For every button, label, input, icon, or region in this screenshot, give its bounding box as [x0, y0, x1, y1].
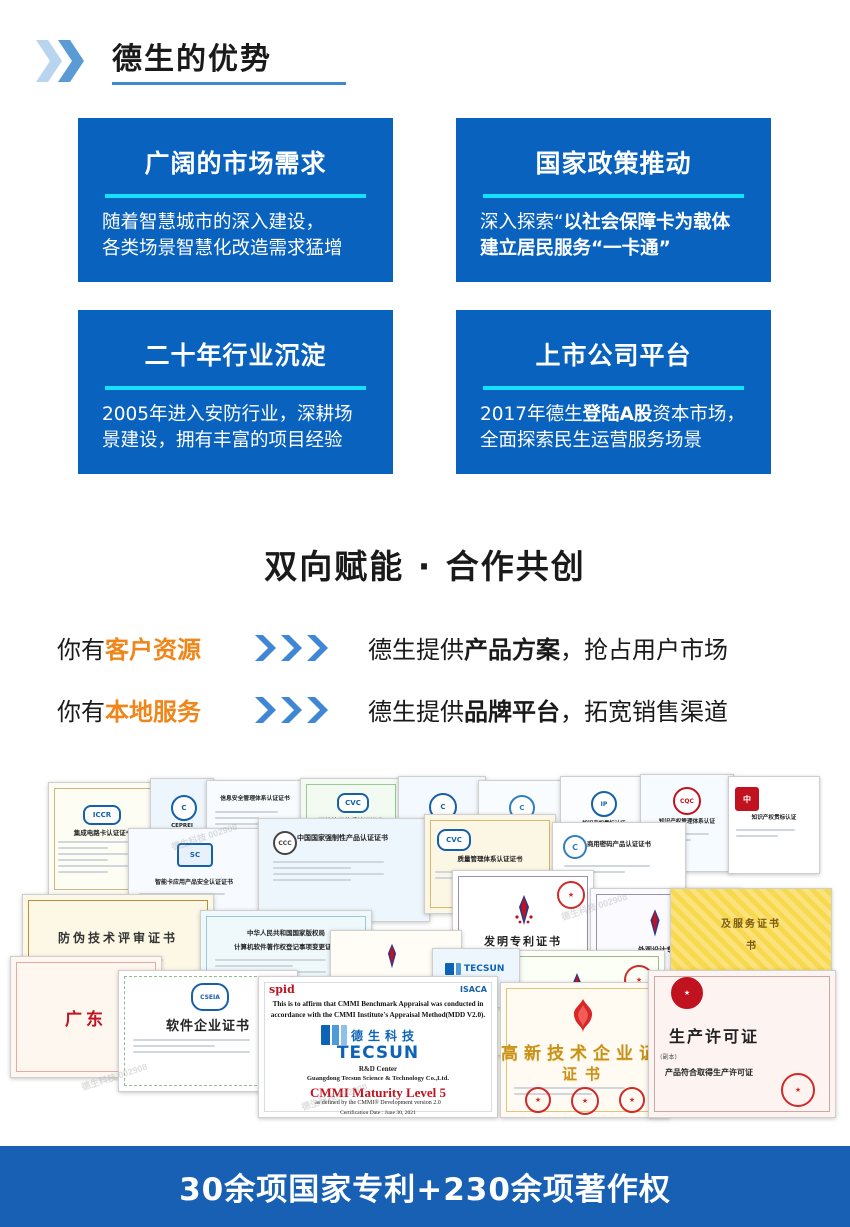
- certificate-title: 及服务证书: [671, 915, 831, 930]
- synergy-right-suffix: ，抢占用户市场: [560, 636, 728, 664]
- patent-emblem-icon: [645, 909, 665, 941]
- tecsun-en-label: TECSUN: [259, 1043, 497, 1063]
- cmmi-company: Guangdong Tecsun Science & Technology Co…: [259, 1075, 497, 1082]
- certificate-title-line2: 证书: [501, 1063, 669, 1084]
- red-seal-icon: ★: [781, 1073, 815, 1107]
- tecsun-mark-icon: [321, 1025, 347, 1045]
- certificate-title: 智能卡应用产品安全认证证书: [129, 877, 259, 886]
- card-body-suffix: “一卡通”: [591, 238, 671, 259]
- flame-emblem-icon: [567, 999, 599, 1037]
- synergy-left-highlight: 客户资源: [105, 636, 201, 664]
- certificate-title: 防伪技术评审证书: [23, 929, 213, 946]
- certificate-tile: CCC 中国国家强制性产品认证证书: [258, 818, 430, 922]
- card-title: 上市公司平台: [456, 310, 771, 372]
- ceprei-badge-icon: C: [171, 795, 197, 821]
- chevron-group: [36, 40, 102, 82]
- certificate-tile-cmmi: spid ISACA This is to affirm that CMMI B…: [258, 976, 498, 1118]
- synergy-left: 你有本地服务: [57, 692, 201, 727]
- cmmi-cert-date: Certification Date : June 30, 2021: [259, 1109, 497, 1118]
- cispa-badge-icon: C: [563, 835, 587, 859]
- red-seal-icon: ★: [525, 1087, 551, 1113]
- card-body-prefix: 深入探索“: [480, 212, 564, 233]
- iccr-badge-icon: ICCR: [83, 805, 121, 825]
- section-header: 德生的优势: [0, 34, 850, 92]
- synergy-right: 德生提供产品方案，抢占用户市场: [368, 630, 728, 665]
- triple-chevron-icon: [255, 697, 341, 723]
- smartcard-badge-icon: SC: [177, 843, 213, 867]
- synergy-left-prefix: 你有: [57, 636, 105, 664]
- certificate-tile-hightech: 高新技术企业证书 证书 ★ ★ ★: [500, 982, 670, 1118]
- patent-emblem-icon: [383, 943, 401, 973]
- card-body-line2: 各类场景智慧化改造需求猛增: [102, 238, 343, 259]
- banner-text: 30余项国家专利+230余项著作权: [179, 1164, 671, 1209]
- triple-chevron-icon: [255, 635, 341, 661]
- certificate-title: 质量管理体系认证证书: [425, 853, 555, 863]
- cmmi-statement: This is to affirm that CMMI Benchmark Ap…: [269, 999, 488, 1021]
- national-emblem-icon: ★: [671, 977, 703, 1009]
- advantage-card-listed-company: 上市公司平台 2017年德生登陆A股资本市场，全面探索民生运营服务场景: [456, 310, 771, 474]
- ccc-badge-icon: CCC: [273, 831, 297, 855]
- title-underline: [112, 82, 346, 85]
- certificate-title: 高新技术企业证书: [501, 1039, 669, 1064]
- synergy-heading: 双向赋能 · 合作共创: [0, 540, 850, 588]
- card-body-prefix: 2017年德生: [480, 404, 583, 425]
- card-body-line1: 随着智慧城市的深入建设，: [102, 212, 324, 233]
- red-seal-icon: ★: [619, 1087, 645, 1113]
- chevron-right-icon-dark: [58, 40, 84, 82]
- synergy-right-prefix: 德生提供: [368, 636, 464, 664]
- cmmi-level: CMMI Maturity Level 5: [259, 1085, 497, 1101]
- card-body: 2005年进入安防行业，深耕场 景建设，拥有丰富的项目经验: [78, 390, 393, 455]
- cmmi-unit: R&D Center: [259, 1065, 497, 1073]
- certificate-tile-production-license: ★ 生产许可证 (副本) 产品符合取得生产许可证 ★: [648, 970, 836, 1118]
- synergy-left-prefix: 你有: [57, 698, 105, 726]
- synergy-right-suffix: ，拓宽销售渠道: [560, 698, 728, 726]
- synergy-right-bold: 品牌平台: [464, 698, 560, 726]
- advantage-card-industry-experience: 二十年行业沉淀 2005年进入安防行业，深耕场 景建设，拥有丰富的项目经验: [78, 310, 393, 474]
- tecsun-logo: TECSUN: [445, 963, 504, 975]
- certificate-title: 生产许可证: [669, 1023, 831, 1047]
- certificate-title: 商用密码产品认证证书: [587, 839, 681, 848]
- flag-badge-icon: 中: [735, 787, 759, 811]
- synergy-row-local-service: 你有本地服务 德生提供品牌平台，拓宽销售渠道: [0, 692, 850, 754]
- synergy-right-prefix: 德生提供: [368, 698, 464, 726]
- ipms-badge-icon: IP: [591, 791, 617, 817]
- card-body: 2017年德生登陆A股资本市场，全面探索民生运营服务场景: [456, 390, 771, 455]
- tecsun-mark-icon: [445, 963, 461, 975]
- cmmi-note: as defined by the CMMI® Development vers…: [259, 1100, 497, 1106]
- certificate-collage: ICCR 集成电路卡认证证书 C CEPREI ANAB 信息安全管理体系认证证…: [0, 770, 850, 1145]
- certificate-title: 知识产权贯标认证: [729, 813, 819, 821]
- card-body-line1: 2005年进入安防行业，深耕场: [102, 404, 353, 425]
- patent-emblem-icon: [513, 895, 535, 929]
- certificate-title: 发明专利证书: [453, 933, 593, 949]
- synergy-left: 你有客户资源: [57, 630, 201, 665]
- cseia-label: CSEIA: [200, 994, 220, 1001]
- page-title: 德生的优势: [112, 34, 272, 78]
- tecsun-label: TECSUN: [464, 964, 504, 974]
- card-body-line2: 景建设，拥有丰富的项目经验: [102, 430, 343, 451]
- synergy-right: 德生提供品牌平台，拓宽销售渠道: [368, 692, 728, 727]
- synergy-rows: 你有客户资源 德生提供产品方案，抢占用户市场 你有本地服务 德生提供品牌平台，拓…: [0, 630, 850, 754]
- card-title: 国家政策推动: [456, 118, 771, 180]
- certificate-tile: 中 知识产权贯标认证: [728, 776, 820, 874]
- advantage-card-grid: 广阔的市场需求 随着智慧城市的深入建设， 各类场景智慧化改造需求猛增 国家政策推…: [0, 118, 850, 478]
- spid-logo: spid: [269, 983, 295, 996]
- synergy-left-highlight: 本地服务: [105, 698, 201, 726]
- bottom-banner: 30余项国家专利+230余项著作权: [0, 1146, 850, 1227]
- cseia-badge-icon: CSEIA: [191, 983, 229, 1011]
- synergy-right-bold: 产品方案: [464, 636, 560, 664]
- red-seal-icon: ★: [557, 881, 585, 909]
- certificate-title: 中国国家强制性产品认证证书: [297, 833, 423, 843]
- isaca-logo: ISACA: [460, 985, 487, 994]
- card-title: 广阔的市场需求: [78, 118, 393, 180]
- certificate-title-line2: 书: [671, 937, 831, 952]
- tecsun-logo: 德生科技: [321, 1025, 419, 1045]
- advantage-card-market-demand: 广阔的市场需求 随着智慧城市的深入建设， 各类场景智慧化改造需求猛增: [78, 118, 393, 282]
- synergy-row-customer-resource: 你有客户资源 德生提供产品方案，抢占用户市场: [0, 630, 850, 692]
- card-title: 二十年行业沉淀: [78, 310, 393, 372]
- card-body-bold: 登陆A股: [583, 404, 653, 425]
- card-body: 深入探索“以社会保障卡为载体建立居民服务“一卡通”: [456, 198, 771, 263]
- seal-badge-icon: CQC: [673, 787, 701, 815]
- certificate-title: 信息安全管理体系认证证书: [207, 793, 303, 802]
- red-seal-icon: ★: [571, 1087, 599, 1115]
- cvc-badge-icon: CVC: [437, 829, 471, 851]
- advantages-page: 德生的优势 广阔的市场需求 随着智慧城市的深入建设， 各类场景智慧化改造需求猛增…: [0, 0, 850, 1227]
- cvc-badge-icon: CVC: [337, 793, 369, 813]
- card-body: 随着智慧城市的深入建设， 各类场景智慧化改造需求猛增: [78, 198, 393, 263]
- advantage-card-national-policy: 国家政策推动 深入探索“以社会保障卡为载体建立居民服务“一卡通”: [456, 118, 771, 282]
- certificate-subtitle: (副本): [660, 1053, 824, 1062]
- tecsun-cn-label: 德生科技: [351, 1027, 419, 1044]
